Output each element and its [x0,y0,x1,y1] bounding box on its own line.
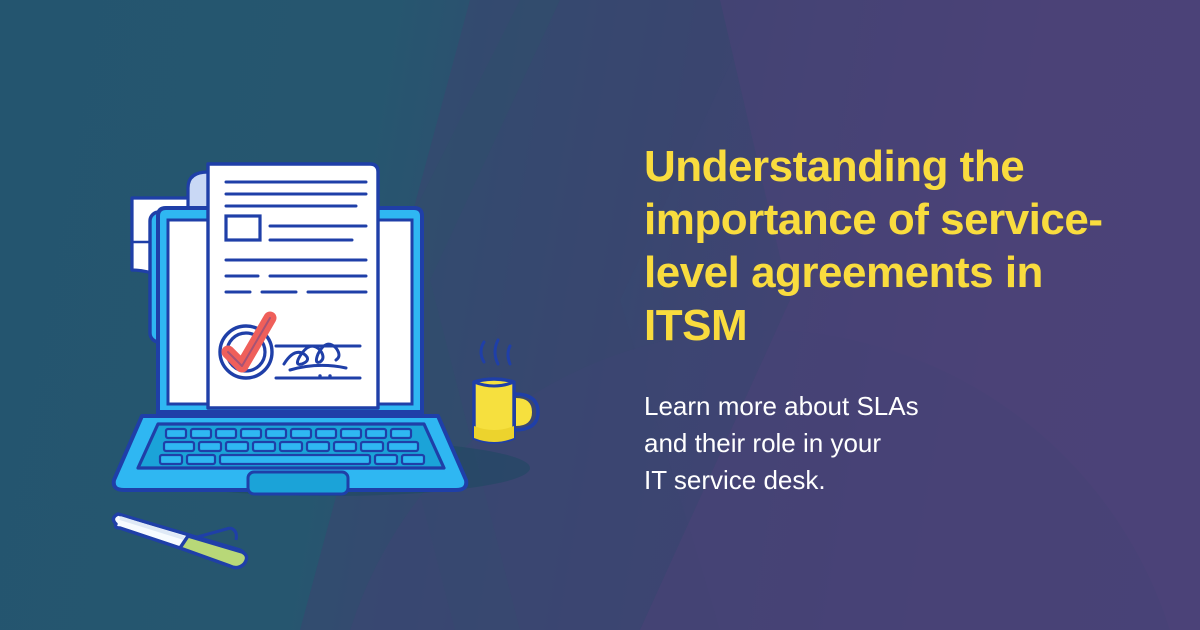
pen-clip [194,528,230,538]
subtitle-line-2: and their role in your [644,425,1044,462]
subtitle-line-3: IT service desk. [644,462,1044,499]
banner-root: Understanding the importance of service-… [0,0,1200,630]
steam-icon [481,340,510,364]
document-sheet-front [208,164,378,408]
page-subtitle: Learn more about SLAs and their role in … [644,388,1044,499]
page-title: Understanding the importance of service-… [644,140,1104,352]
document-image-box [226,216,260,240]
text-column: Understanding the importance of service-… [644,0,1114,630]
trackpad [248,472,348,494]
coffee-mug [474,379,538,442]
laptop-keyboard [114,416,467,494]
hero-illustration [80,150,600,570]
pen [113,514,246,568]
subtitle-line-1: Learn more about SLAs [644,388,1044,425]
